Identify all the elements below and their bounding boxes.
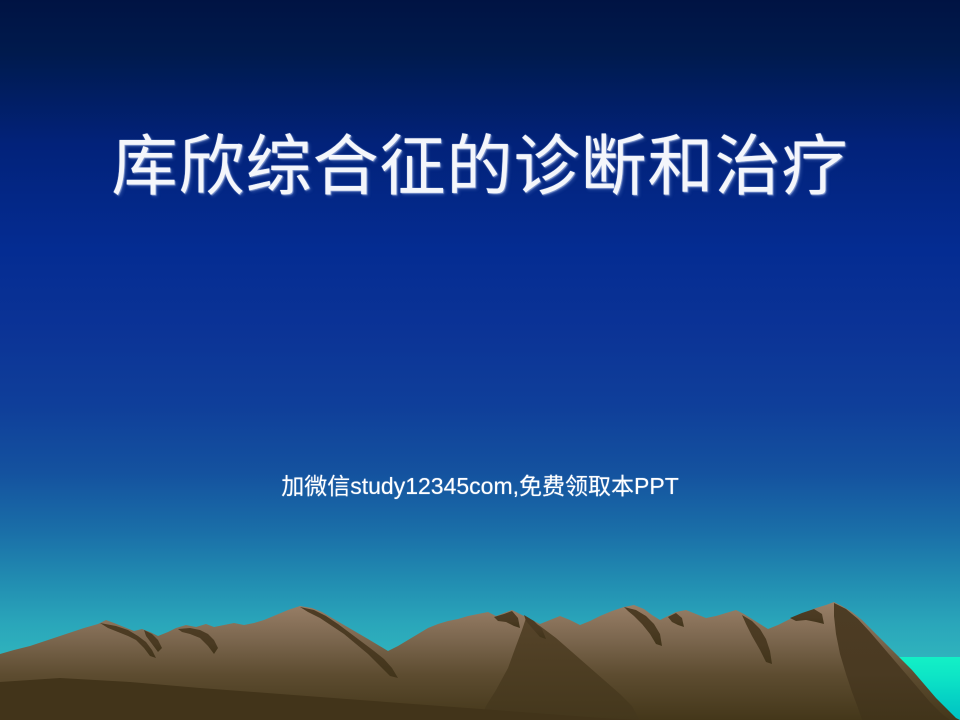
slide-subtitle: 加微信study12345com,免费领取本PPT bbox=[0, 472, 960, 502]
sky-gradient-background bbox=[0, 0, 960, 657]
page-title: 库欣综合征的诊断和治疗 bbox=[0, 128, 960, 206]
mountain-range-silhouette bbox=[0, 596, 960, 720]
presentation-slide: 库欣综合征的诊断和治疗 加微信study12345com,免费领取本PPT bbox=[0, 0, 960, 720]
mountain-svg bbox=[0, 596, 960, 720]
